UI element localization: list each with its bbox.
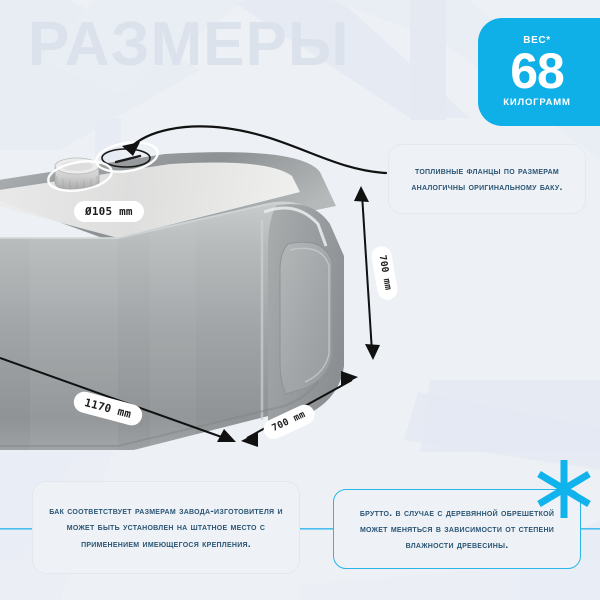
asterisk-icon (533, 458, 595, 520)
callout-factory-dimensions-text: Бак соответствует размерам завода-изгото… (45, 503, 287, 552)
weight-badge-value: 68 (510, 47, 564, 96)
callout-factory-dimensions: Бак соответствует размерам завода-изгото… (32, 481, 300, 574)
callout-fuel-flange: Топливные Фланцы по размерам аналогичны … (388, 144, 586, 214)
weight-badge: ВЕС* 68 КИЛОГРАММ (478, 18, 600, 126)
curved-arrow-icon (100, 118, 400, 178)
weight-badge-unit: КИЛОГРАММ (503, 98, 570, 108)
dimension-label-diameter: Ø105 mm (74, 201, 144, 222)
callout-fuel-flange-text: Топливные Фланцы по размерам аналогичны … (401, 163, 573, 196)
infographic-canvas: РАЗМЕРЫ ВЕС* 68 КИЛОГРАММ (0, 0, 600, 600)
page-title: РАЗМЕРЫ (28, 14, 350, 76)
